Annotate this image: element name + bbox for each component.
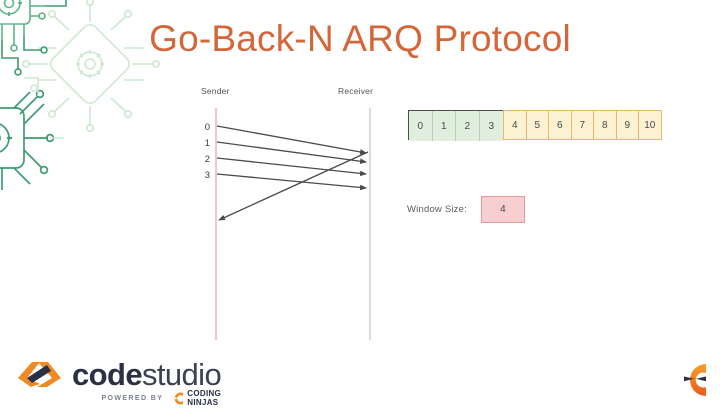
frame-arrow-3: [217, 174, 366, 188]
codestudio-logo: codestudio POWERED BY CODING NINJAS: [14, 356, 221, 390]
frame-cell-1[interactable]: 1: [433, 111, 457, 141]
partner-line-2: NINJAS: [187, 398, 218, 407]
timeline-arrows-svg: [190, 86, 400, 351]
frame-arrow-1: [217, 142, 366, 162]
codestudio-mark-icon: [14, 356, 64, 390]
frame-cell-8[interactable]: 8: [593, 110, 617, 140]
codestudio-text: codestudio: [72, 359, 221, 390]
timing-diagram: Sender Receiver 0 1 2 3: [190, 86, 400, 351]
page-title: Go-Back-N ARQ Protocol: [0, 18, 720, 60]
coding-ninjas-text: CODING NINJAS: [187, 390, 221, 407]
frame-cell-9[interactable]: 9: [616, 110, 640, 140]
coding-ninjas-c-icon: [169, 392, 184, 405]
sliding-window-group: 0 1 2 3: [408, 110, 504, 140]
frame-cell-6[interactable]: 6: [548, 110, 572, 140]
slide-canvas: Go-Back-N ARQ Protocol Sender Receiver 0…: [0, 0, 720, 419]
frame-cell-4[interactable]: 4: [503, 110, 527, 140]
window-size-label: Window Size:: [407, 204, 467, 215]
brand-code: code: [72, 357, 142, 392]
codestudio-wordmark: codestudio POWERED BY CODING NINJAS: [72, 359, 221, 390]
frame-arrow-0: [217, 126, 366, 153]
frame-cell-0[interactable]: 0: [409, 111, 433, 141]
frame-sequence-strip: 0 1 2 3 4 5 6 7 8 9 10: [408, 110, 662, 140]
brand-studio: studio: [142, 357, 221, 392]
powered-by-row: POWERED BY CODING NINJAS: [101, 390, 221, 407]
coding-ninjas-logo: CODING NINJAS: [169, 390, 221, 407]
frame-cell-2[interactable]: 2: [456, 111, 480, 141]
frame-cell-3[interactable]: 3: [480, 111, 504, 141]
window-size-row: Window Size: 4: [407, 196, 525, 223]
frame-cell-5[interactable]: 5: [526, 110, 550, 140]
window-size-value-box[interactable]: 4: [481, 196, 525, 223]
coding-ninjas-corner-icon: [670, 362, 708, 398]
frame-cell-7[interactable]: 7: [571, 110, 595, 140]
powered-by-label: POWERED BY: [101, 395, 163, 402]
frame-cell-10[interactable]: 10: [638, 110, 662, 140]
frame-arrow-2: [217, 158, 366, 174]
